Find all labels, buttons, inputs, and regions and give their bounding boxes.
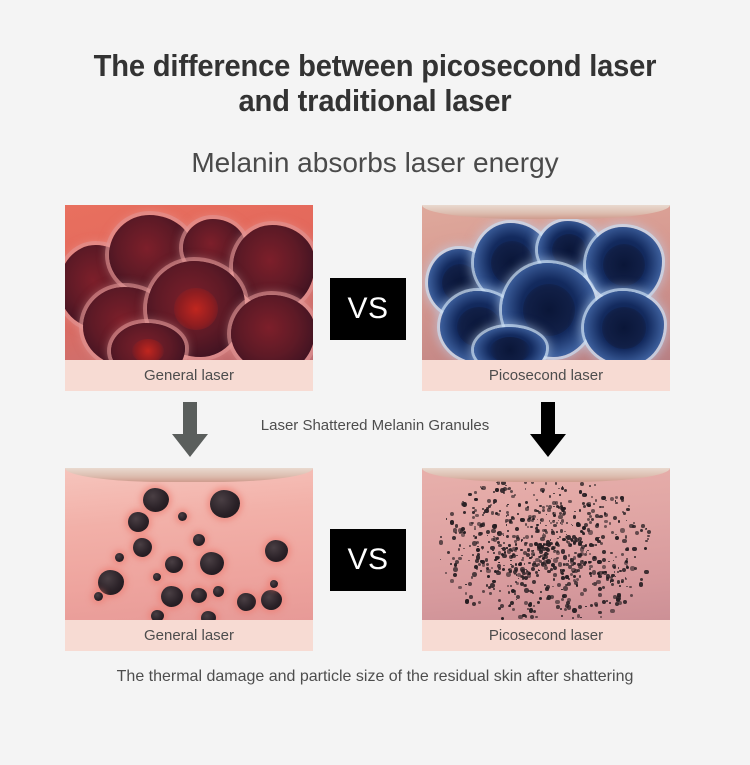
particle bbox=[610, 552, 613, 555]
particle bbox=[532, 563, 535, 566]
particle bbox=[508, 544, 511, 547]
particle bbox=[605, 500, 607, 502]
particle bbox=[497, 532, 498, 533]
caption-general-laser-bottom: General laser bbox=[65, 620, 313, 651]
particle bbox=[488, 505, 491, 508]
particle bbox=[580, 592, 584, 596]
particle bbox=[486, 584, 489, 587]
particle bbox=[552, 501, 556, 505]
particle bbox=[604, 520, 608, 524]
particle bbox=[472, 511, 475, 514]
particle bbox=[592, 570, 596, 574]
particle bbox=[609, 602, 611, 604]
particle bbox=[625, 560, 628, 563]
mid-label: Laser Shattered Melanin Granules bbox=[0, 417, 750, 434]
particle bbox=[469, 545, 471, 547]
particle bbox=[610, 497, 614, 501]
particle bbox=[644, 570, 649, 575]
particle bbox=[461, 532, 465, 536]
particle bbox=[516, 555, 517, 556]
particle bbox=[529, 543, 532, 546]
particle bbox=[644, 547, 647, 550]
particle bbox=[491, 567, 493, 569]
particle bbox=[522, 578, 524, 580]
panel-general-laser-bottom: General laser bbox=[65, 468, 313, 651]
particle bbox=[511, 516, 514, 519]
particle bbox=[528, 562, 530, 564]
particle bbox=[553, 558, 558, 563]
particle bbox=[515, 563, 518, 566]
particle bbox=[610, 609, 614, 613]
particle bbox=[620, 528, 624, 532]
particle bbox=[563, 586, 568, 591]
particle bbox=[562, 486, 563, 487]
particle bbox=[615, 536, 619, 540]
particle bbox=[453, 567, 458, 572]
particle bbox=[555, 600, 560, 605]
particle bbox=[587, 512, 590, 515]
particle bbox=[536, 574, 539, 577]
particle bbox=[489, 592, 492, 595]
particle bbox=[566, 522, 568, 524]
particle bbox=[490, 583, 495, 588]
particle bbox=[562, 507, 565, 510]
particle bbox=[492, 580, 495, 583]
particle bbox=[553, 573, 557, 577]
particle bbox=[509, 519, 511, 521]
particle bbox=[559, 494, 561, 496]
particle bbox=[589, 553, 591, 555]
particle bbox=[516, 582, 519, 585]
particle bbox=[556, 605, 560, 609]
particle bbox=[487, 535, 488, 536]
title-line-2: and traditional laser bbox=[23, 83, 728, 118]
particle bbox=[561, 487, 564, 490]
photo-large-residual-granules bbox=[65, 468, 313, 620]
particle bbox=[573, 515, 577, 519]
particle bbox=[514, 494, 516, 496]
footer-note: The thermal damage and particle size of … bbox=[0, 668, 750, 686]
particle bbox=[521, 559, 523, 561]
particle bbox=[487, 575, 490, 578]
particle bbox=[563, 555, 568, 560]
particle bbox=[534, 542, 538, 546]
particle bbox=[506, 524, 508, 526]
particle bbox=[491, 538, 495, 542]
particle bbox=[568, 565, 572, 569]
particle bbox=[568, 578, 570, 580]
particle bbox=[491, 511, 494, 514]
particle bbox=[583, 533, 585, 535]
particle bbox=[502, 568, 505, 571]
panel-picosecond-laser-top: Picosecond laser bbox=[422, 205, 670, 391]
particle bbox=[645, 540, 647, 542]
particle bbox=[599, 515, 603, 519]
particle bbox=[595, 544, 597, 546]
particle bbox=[495, 488, 498, 491]
particle bbox=[536, 499, 538, 501]
particle bbox=[526, 570, 528, 572]
particle bbox=[469, 595, 473, 599]
particle bbox=[597, 560, 602, 565]
particle bbox=[512, 535, 515, 538]
particle bbox=[503, 487, 507, 491]
particle bbox=[567, 598, 571, 602]
particle bbox=[478, 563, 481, 566]
particle bbox=[561, 615, 563, 617]
particle bbox=[505, 521, 507, 523]
particle bbox=[553, 578, 556, 581]
particle bbox=[569, 544, 572, 547]
particle bbox=[514, 540, 516, 542]
particle bbox=[478, 532, 482, 536]
granule bbox=[151, 610, 164, 620]
particle bbox=[530, 526, 533, 529]
particle bbox=[471, 522, 473, 524]
particle bbox=[527, 548, 530, 551]
particle bbox=[568, 560, 569, 561]
particle bbox=[535, 616, 538, 619]
particle bbox=[592, 556, 597, 561]
particle bbox=[553, 524, 556, 527]
particle bbox=[498, 567, 501, 570]
particle bbox=[547, 508, 550, 511]
particle bbox=[524, 588, 529, 593]
particle bbox=[532, 518, 535, 521]
particle bbox=[598, 571, 603, 576]
particle bbox=[499, 510, 501, 512]
caption-general-laser-top: General laser bbox=[65, 360, 313, 391]
vs-badge-top: VS bbox=[330, 278, 406, 340]
particle bbox=[621, 553, 624, 556]
granule bbox=[201, 611, 216, 620]
particle bbox=[474, 526, 476, 528]
particle bbox=[547, 595, 552, 600]
particle bbox=[584, 553, 587, 556]
particle bbox=[610, 579, 614, 583]
particle bbox=[474, 491, 477, 494]
particle bbox=[472, 516, 475, 519]
particle bbox=[533, 554, 535, 556]
particle bbox=[577, 569, 580, 572]
particle bbox=[452, 536, 456, 540]
panel-general-laser-top: General laser bbox=[65, 205, 313, 391]
particle bbox=[477, 546, 479, 548]
particle bbox=[450, 579, 454, 583]
melanin-cell bbox=[584, 291, 664, 360]
particle bbox=[579, 490, 582, 493]
particle bbox=[486, 569, 491, 574]
particle bbox=[558, 562, 562, 566]
particle bbox=[602, 600, 606, 604]
particle bbox=[450, 520, 455, 525]
particle bbox=[507, 504, 508, 505]
particle bbox=[559, 536, 561, 538]
particle bbox=[520, 518, 525, 523]
particle bbox=[455, 524, 459, 528]
particle bbox=[589, 521, 592, 524]
particle bbox=[527, 526, 529, 528]
particle bbox=[491, 529, 496, 534]
particle bbox=[524, 542, 528, 546]
particle bbox=[560, 529, 564, 533]
particle bbox=[587, 502, 590, 505]
particle bbox=[482, 563, 486, 567]
particle bbox=[629, 524, 634, 529]
particle bbox=[598, 593, 602, 597]
particle bbox=[591, 509, 595, 513]
particle bbox=[626, 508, 630, 512]
particle bbox=[495, 512, 498, 515]
particle bbox=[450, 563, 452, 565]
particle bbox=[640, 578, 643, 581]
particle bbox=[514, 590, 517, 593]
particle bbox=[459, 544, 461, 546]
particle bbox=[529, 608, 533, 612]
particle bbox=[562, 513, 565, 516]
particle bbox=[632, 547, 637, 552]
particle bbox=[545, 587, 549, 591]
particle bbox=[525, 507, 529, 511]
particle bbox=[503, 542, 505, 544]
particle bbox=[453, 528, 458, 533]
particle bbox=[589, 485, 591, 487]
particle bbox=[555, 482, 557, 484]
particle bbox=[578, 554, 581, 557]
particle bbox=[619, 585, 621, 587]
particle bbox=[602, 506, 604, 508]
particle bbox=[556, 505, 559, 508]
particle bbox=[594, 602, 599, 607]
melanin-cell bbox=[231, 295, 313, 360]
particle bbox=[465, 584, 467, 586]
particle bbox=[601, 496, 606, 501]
particle bbox=[516, 535, 520, 539]
particle bbox=[506, 535, 509, 538]
particle bbox=[594, 484, 596, 486]
caption-picosecond-laser-bottom: Picosecond laser bbox=[422, 620, 670, 651]
particle bbox=[551, 548, 553, 550]
particle bbox=[568, 500, 572, 504]
particle bbox=[486, 563, 489, 566]
particle bbox=[622, 539, 626, 543]
particle bbox=[598, 611, 601, 614]
photo-intact-blue-melanin-cells bbox=[422, 205, 670, 360]
particle bbox=[507, 549, 511, 553]
particle bbox=[561, 549, 566, 554]
particle bbox=[496, 537, 499, 540]
particle bbox=[540, 591, 542, 593]
particle bbox=[500, 604, 504, 608]
particle bbox=[626, 547, 630, 551]
photo-intact-red-melanin-cells bbox=[65, 205, 313, 360]
particle bbox=[572, 571, 575, 574]
particle bbox=[522, 557, 524, 559]
particle bbox=[572, 617, 574, 619]
subtitle: Melanin absorbs laser energy bbox=[0, 147, 750, 179]
particle bbox=[572, 608, 576, 612]
particle bbox=[447, 551, 450, 554]
particle bbox=[589, 572, 592, 575]
particle bbox=[618, 520, 620, 522]
particle bbox=[539, 505, 541, 507]
particle bbox=[582, 526, 586, 530]
vs-badge-bottom: VS bbox=[330, 529, 406, 591]
particle bbox=[622, 511, 624, 513]
particle bbox=[641, 524, 645, 528]
page-title: The difference between picosecond laser … bbox=[0, 48, 750, 118]
particle bbox=[545, 482, 548, 485]
particle bbox=[494, 570, 497, 573]
particle bbox=[502, 533, 504, 535]
particle bbox=[525, 488, 527, 490]
particle bbox=[613, 566, 616, 569]
caption-picosecond-laser-top: Picosecond laser bbox=[422, 360, 670, 391]
particle bbox=[574, 552, 576, 554]
particle bbox=[476, 548, 480, 552]
particle bbox=[507, 585, 509, 587]
particle bbox=[566, 535, 571, 540]
title-line-1: The difference between picosecond laser bbox=[23, 48, 728, 83]
particle bbox=[445, 572, 447, 574]
panel-picosecond-laser-bottom: Picosecond laser bbox=[422, 468, 670, 651]
particle bbox=[540, 537, 544, 541]
photo-fine-particle-cloud bbox=[422, 468, 670, 620]
particle bbox=[584, 561, 587, 564]
particle bbox=[515, 547, 517, 549]
particle bbox=[474, 528, 476, 530]
particle bbox=[452, 557, 455, 560]
particle bbox=[589, 515, 592, 518]
particle bbox=[458, 548, 461, 551]
particle bbox=[576, 578, 579, 581]
particle bbox=[557, 583, 561, 587]
particle bbox=[580, 482, 584, 486]
particle bbox=[619, 570, 622, 573]
particle bbox=[578, 564, 583, 569]
particle bbox=[639, 582, 644, 587]
particle bbox=[523, 584, 526, 587]
particle bbox=[598, 537, 599, 538]
particle bbox=[530, 590, 533, 593]
particle bbox=[461, 502, 466, 507]
particle bbox=[609, 522, 611, 524]
particle bbox=[645, 528, 647, 530]
particle bbox=[568, 554, 570, 556]
particle bbox=[602, 550, 606, 554]
particle bbox=[542, 509, 545, 512]
particle bbox=[510, 564, 512, 566]
particle bbox=[616, 596, 621, 601]
particle bbox=[533, 605, 535, 607]
particle bbox=[472, 554, 474, 556]
particle bbox=[606, 600, 608, 602]
particle bbox=[535, 558, 540, 563]
